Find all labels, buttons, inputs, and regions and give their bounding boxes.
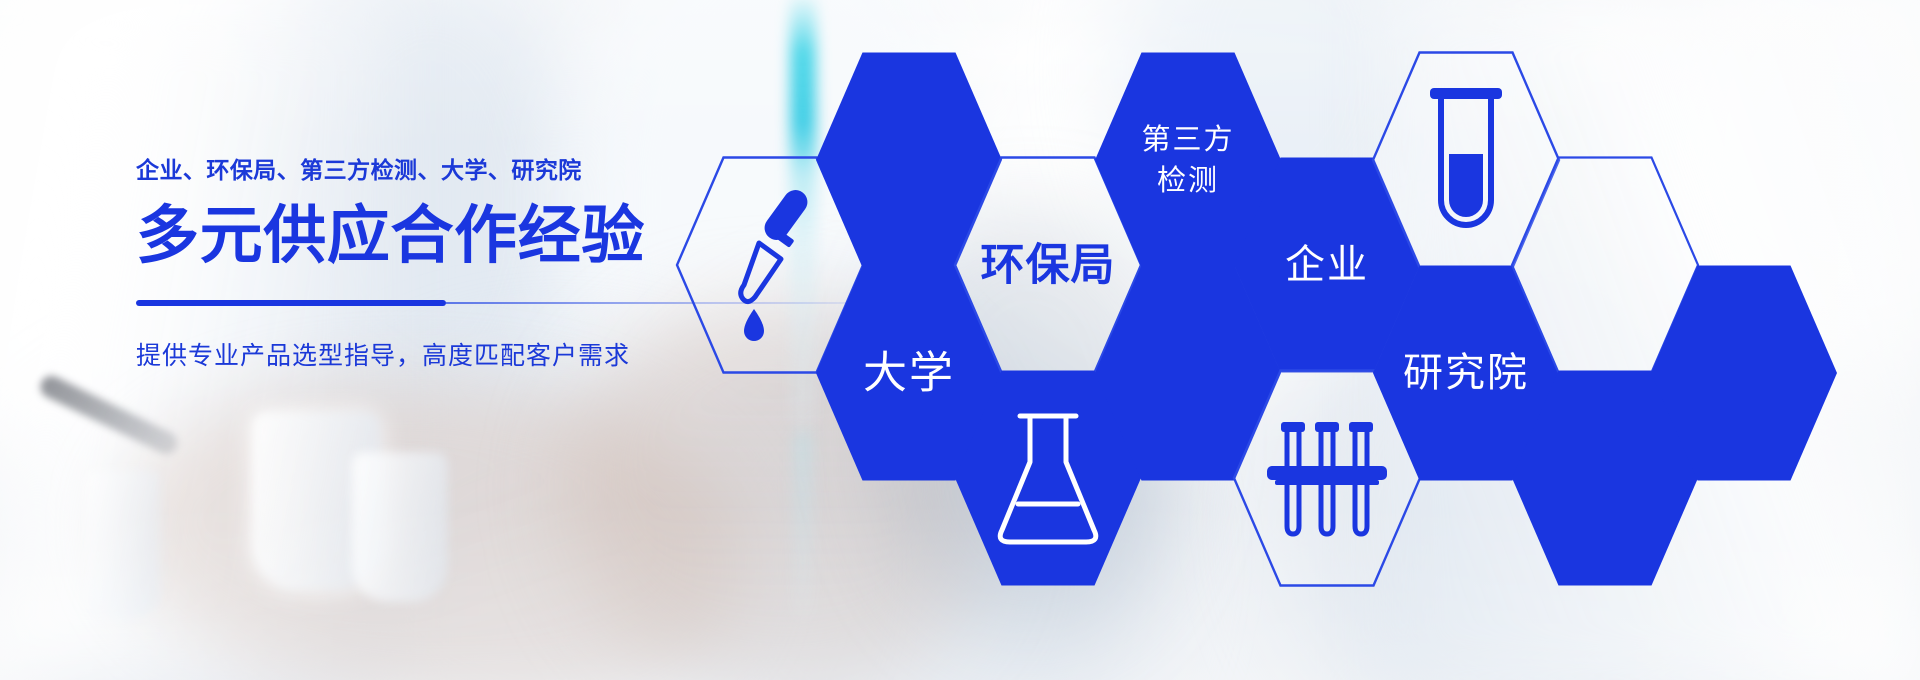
hex-university-label: 大学 (863, 349, 955, 398)
banner-canvas: 企业、环保局、第三方检测、大学、研究院 多元供应合作经验 提供专业产品选型指导，… (0, 0, 1920, 680)
hex-institute-label: 研究院 (1403, 351, 1529, 395)
hex-enterprise-label: 企业 (1285, 243, 1369, 287)
hex-thirdparty-label-line1: 第三方 (1141, 123, 1234, 156)
hexagon-cluster: 大学 环保局 第三方 检测 (0, 0, 1920, 680)
hex-thirdparty-label-line2: 检测 (1157, 164, 1219, 197)
hex-epb-label: 环保局 (981, 241, 1116, 290)
